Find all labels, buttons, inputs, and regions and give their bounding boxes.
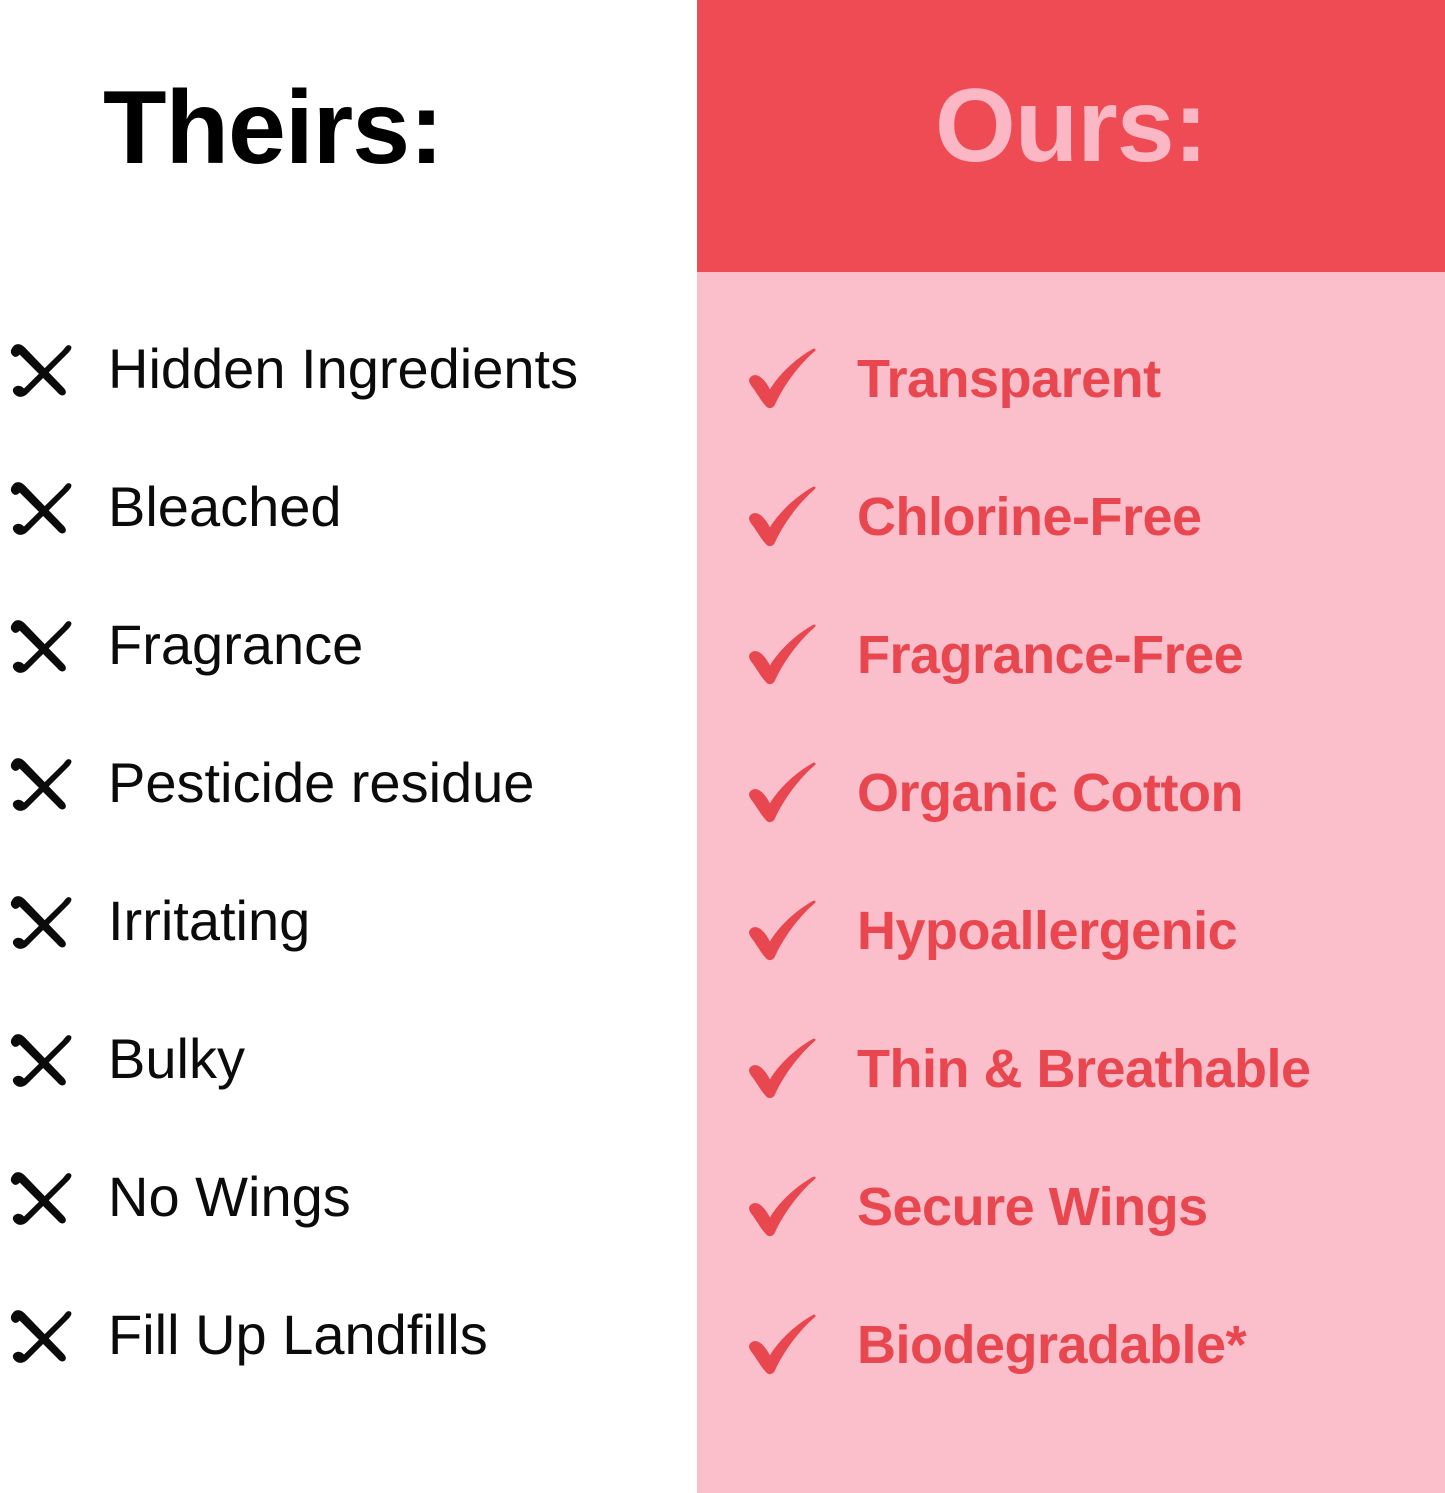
list-item: Chlorine-Free: [697, 448, 1445, 586]
list-item-label: Fragrance: [108, 617, 363, 673]
list-item: Hypoallergenic: [697, 862, 1445, 1000]
cross-icon: [6, 1299, 78, 1371]
check-icon: [745, 480, 823, 554]
list-item: Irritating: [0, 852, 697, 990]
cross-icon: [6, 1161, 78, 1233]
cross-icon: [6, 609, 78, 681]
cross-icon: [6, 1023, 78, 1095]
list-item: Fragrance: [0, 576, 697, 714]
list-item-label: Hidden Ingredients: [108, 341, 578, 397]
list-item-label: Fragrance-Free: [857, 628, 1243, 682]
list-item: Bleached: [0, 438, 697, 576]
list-item: Hidden Ingredients: [0, 300, 697, 438]
ours-panel: Ours: Transparent Chlorine-Free Fragranc: [697, 0, 1445, 1493]
ours-heading: Ours:: [697, 74, 1445, 178]
cross-icon: [6, 885, 78, 957]
cross-icon: [6, 471, 78, 543]
ours-banner: Ours:: [697, 0, 1445, 272]
list-item-label: Bleached: [108, 479, 342, 535]
check-icon: [745, 1170, 823, 1244]
theirs-heading: Theirs:: [103, 76, 443, 180]
list-item-label: Biodegradable*: [857, 1318, 1246, 1372]
theirs-list: Hidden Ingredients Bleached Fragrance: [0, 300, 697, 1404]
comparison-chart: Theirs: Hidden Ingredients Bleached: [0, 0, 1445, 1493]
check-icon: [745, 1032, 823, 1106]
list-item-label: Transparent: [857, 352, 1161, 406]
list-item-label: Chlorine-Free: [857, 490, 1202, 544]
check-icon: [745, 894, 823, 968]
list-item: Thin & Breathable: [697, 1000, 1445, 1138]
list-item: Fill Up Landfills: [0, 1266, 697, 1404]
check-icon: [745, 618, 823, 692]
list-item-label: Fill Up Landfills: [108, 1307, 488, 1363]
list-item-label: Organic Cotton: [857, 766, 1243, 820]
theirs-panel: Theirs: Hidden Ingredients Bleached: [0, 0, 697, 1493]
list-item: Organic Cotton: [697, 724, 1445, 862]
list-item: Biodegradable*: [697, 1276, 1445, 1414]
list-item: No Wings: [0, 1128, 697, 1266]
cross-icon: [6, 333, 78, 405]
list-item-label: Bulky: [108, 1031, 245, 1087]
list-item-label: Hypoallergenic: [857, 904, 1237, 958]
list-item: Fragrance-Free: [697, 586, 1445, 724]
ours-list: Transparent Chlorine-Free Fragrance-Free…: [697, 310, 1445, 1414]
list-item: Bulky: [0, 990, 697, 1128]
list-item-label: Secure Wings: [857, 1180, 1208, 1234]
list-item-label: No Wings: [108, 1169, 351, 1225]
cross-icon: [6, 747, 78, 819]
list-item: Secure Wings: [697, 1138, 1445, 1276]
list-item-label: Thin & Breathable: [857, 1042, 1311, 1096]
list-item: Pesticide residue: [0, 714, 697, 852]
check-icon: [745, 1308, 823, 1382]
list-item-label: Irritating: [108, 893, 310, 949]
check-icon: [745, 756, 823, 830]
list-item-label: Pesticide residue: [108, 755, 534, 811]
check-icon: [745, 342, 823, 416]
list-item: Transparent: [697, 310, 1445, 448]
